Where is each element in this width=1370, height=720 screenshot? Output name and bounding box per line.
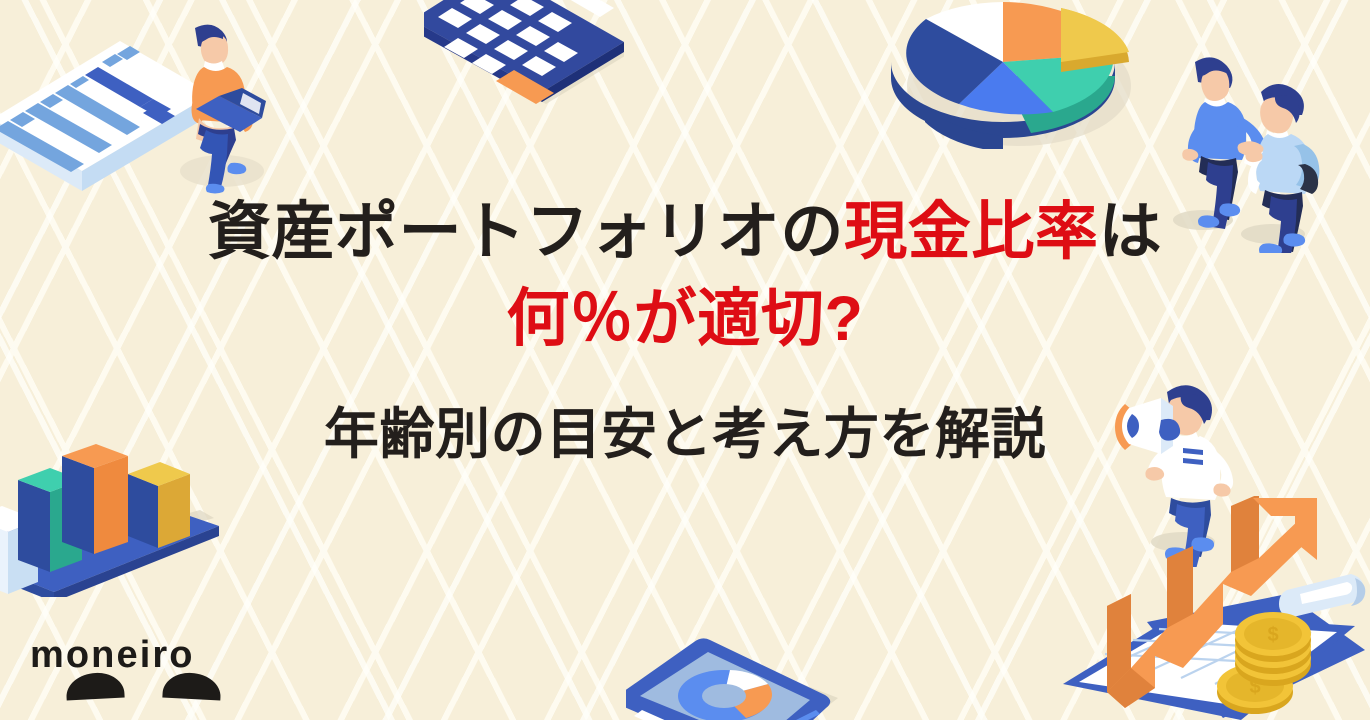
illustration-growth-arrow-with-coins: $ $ — [1055, 496, 1370, 720]
illustration-phone-with-donut-chart — [626, 638, 841, 720]
illustration-two-people-handshake — [1155, 38, 1350, 253]
logo-wordmark: moneiro — [30, 636, 195, 674]
illustration-pie-chart-3d — [885, 0, 1150, 149]
illustration-person-on-document-with-laptop — [0, 8, 290, 228]
svg-text:$: $ — [1267, 624, 1278, 646]
illustration-calculator — [424, 0, 624, 131]
hero-banner: $ $ 資産ポートフォリオの現金比率は 何％が適切? 年齢別 — [0, 0, 1370, 720]
brand-logo[interactable]: moneiro — [28, 636, 218, 698]
illustration-bar-chart-3d — [0, 382, 219, 597]
